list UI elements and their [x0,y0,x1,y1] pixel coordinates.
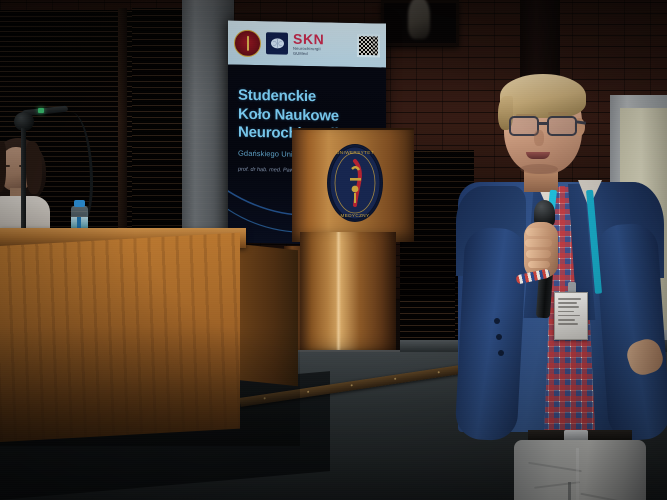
lens-right [547,116,577,136]
skn-subtitle-2: GUMed [293,52,324,57]
gumed-emblem-graphic: UNIWERSYTET MEDYCZNY [328,145,382,221]
glasses-bridge [539,122,548,125]
gumed-seal-icon [234,29,261,57]
skn-wordmark: SKN Neurochirurgii GUMed [293,32,324,57]
mouth [526,152,550,159]
eyeglasses-icon [508,116,582,138]
brain-icon [270,37,285,49]
chin-shadow [520,164,558,174]
microphone-stand [21,128,26,234]
status-led-icon [38,108,44,113]
qr-code-icon [357,33,380,56]
trouser-inseam [568,482,571,500]
skn-title: SKN [293,32,324,47]
glasses-temple [576,120,586,124]
grey-column [182,0,234,250]
lectern: UNIWERSYTET MEDYCZNY [292,128,414,370]
nose [534,130,544,146]
lectern-highlight [336,232,341,360]
woman-hair-right [26,142,42,194]
bottle-label-stripe [77,217,81,228]
conference-photo: SKN Neurochirurgii GUMed Studenckie Koło… [0,0,667,500]
desk-front-panel [0,233,240,442]
banner-header-band: SKN Neurochirurgii GUMed [228,20,386,67]
lectern-column [300,232,396,360]
trouser-crease [576,448,579,500]
gumed-emblem: UNIWERSYTET MEDYCZNY [327,144,383,222]
desk-side-panel [238,244,298,386]
trousers [514,440,646,500]
banner-headline-1: Studenckie [238,87,376,108]
svg-text:UNIWERSYTET: UNIWERSYTET [336,150,374,155]
hand-holding-microphone [508,222,588,342]
presenter [452,78,667,500]
eyebrow-right [548,112,568,115]
svg-text:MEDYCZNY: MEDYCZNY [341,213,370,218]
skn-brain-logo-icon [266,32,288,54]
bottle-cap [74,200,85,207]
